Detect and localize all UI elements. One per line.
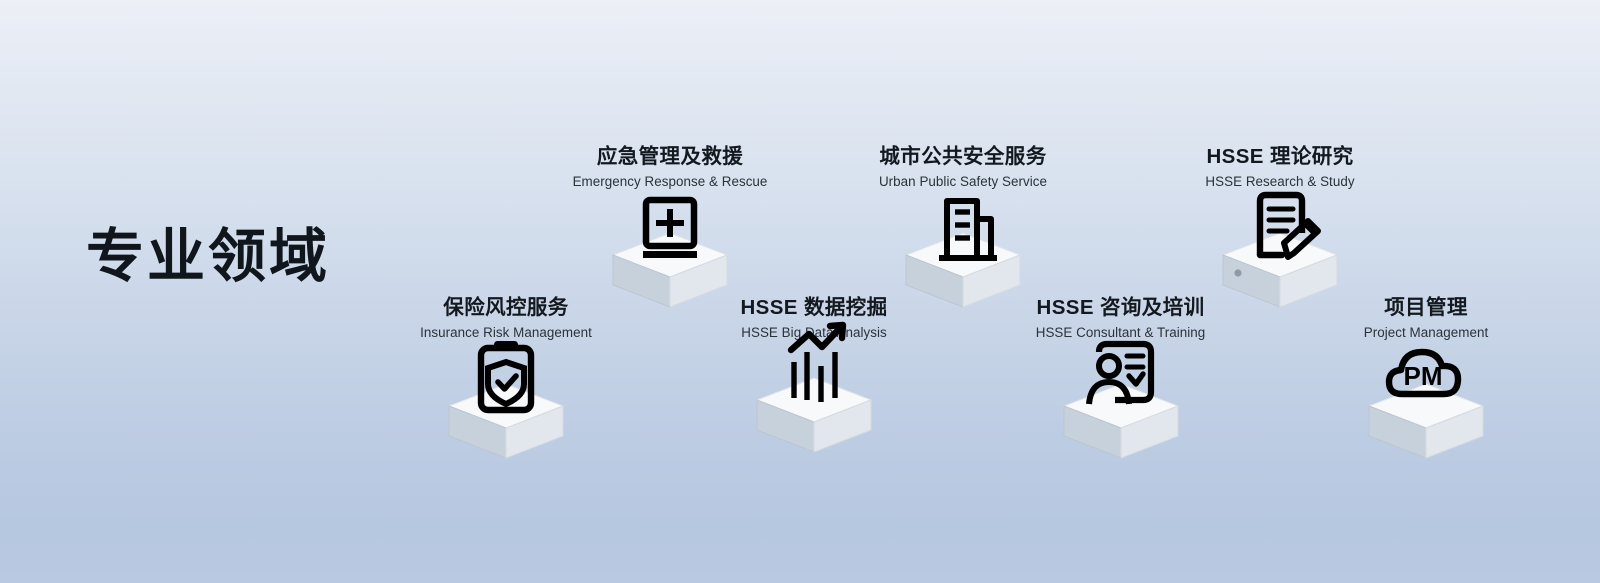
field-label-en: Emergency Response & Rescue <box>545 173 795 191</box>
field-icon-tile <box>602 203 738 323</box>
field-item-emergency-response[interactable]: 应急管理及救援 Emergency Response & Rescue <box>545 145 795 191</box>
field-item-hsse-research[interactable]: HSSE 理论研究 HSSE Research & Study <box>1172 145 1388 191</box>
field-item-hsse-big-data[interactable]: HSSE 数据挖掘 HSSE Big Data Analysis <box>723 296 905 342</box>
field-labels: 保险风控服务 Insurance Risk Management <box>395 296 617 342</box>
cloud-pm-icon: PM <box>1358 354 1494 474</box>
field-icon-tile <box>1053 354 1189 474</box>
city-buildings-icon <box>895 203 1031 323</box>
field-labels: 应急管理及救援 Emergency Response & Rescue <box>545 145 795 191</box>
field-label-cn: 应急管理及救援 <box>545 145 795 170</box>
field-labels: HSSE 咨询及培训 HSSE Consultant & Training <box>1019 296 1222 342</box>
document-pencil-icon <box>1212 203 1348 323</box>
field-label-cn: HSSE 咨询及培训 <box>1019 296 1222 321</box>
field-item-urban-public-safety[interactable]: 城市公共安全服务 Urban Public Safety Service <box>853 145 1073 191</box>
field-label-en: HSSE Consultant & Training <box>1019 324 1222 342</box>
field-item-project-management[interactable]: 项目管理 Project Management PM <box>1340 296 1512 342</box>
field-label-cn: HSSE 数据挖掘 <box>723 296 905 321</box>
cloud-pm-label: PM <box>1404 361 1443 391</box>
field-item-hsse-consultant[interactable]: HSSE 咨询及培训 HSSE Consultant & Training <box>1019 296 1222 342</box>
field-label-cn: 项目管理 <box>1340 296 1512 321</box>
page-title: 专业领域 <box>86 228 330 286</box>
professional-fields-banner: 专业领域 应急管理及救援 Emergency Response & Rescue <box>0 0 1600 583</box>
field-label-en: Project Management <box>1340 324 1512 342</box>
bar-chart-trend-icon <box>746 348 882 468</box>
field-item-insurance-risk[interactable]: 保险风控服务 Insurance Risk Management <box>395 296 617 342</box>
field-labels: 城市公共安全服务 Urban Public Safety Service <box>853 145 1073 191</box>
field-icon-tile <box>1212 203 1348 323</box>
field-icon-tile <box>895 203 1031 323</box>
field-icon-tile <box>438 354 574 474</box>
field-label-en: Urban Public Safety Service <box>853 173 1073 191</box>
field-label-cn: 保险风控服务 <box>395 296 617 321</box>
field-label-en: HSSE Research & Study <box>1172 173 1388 191</box>
monitor-plus-icon <box>602 203 738 323</box>
clipboard-shield-check-icon <box>438 354 574 474</box>
field-icon-tile <box>746 348 882 468</box>
field-icon-tile: PM <box>1358 354 1494 474</box>
field-labels: 项目管理 Project Management <box>1340 296 1512 342</box>
field-label-cn: 城市公共安全服务 <box>853 145 1073 170</box>
field-label-en: Insurance Risk Management <box>395 324 617 342</box>
field-labels: HSSE 理论研究 HSSE Research & Study <box>1172 145 1388 191</box>
field-label-cn: HSSE 理论研究 <box>1172 145 1388 170</box>
id-card-person-icon <box>1053 354 1189 474</box>
